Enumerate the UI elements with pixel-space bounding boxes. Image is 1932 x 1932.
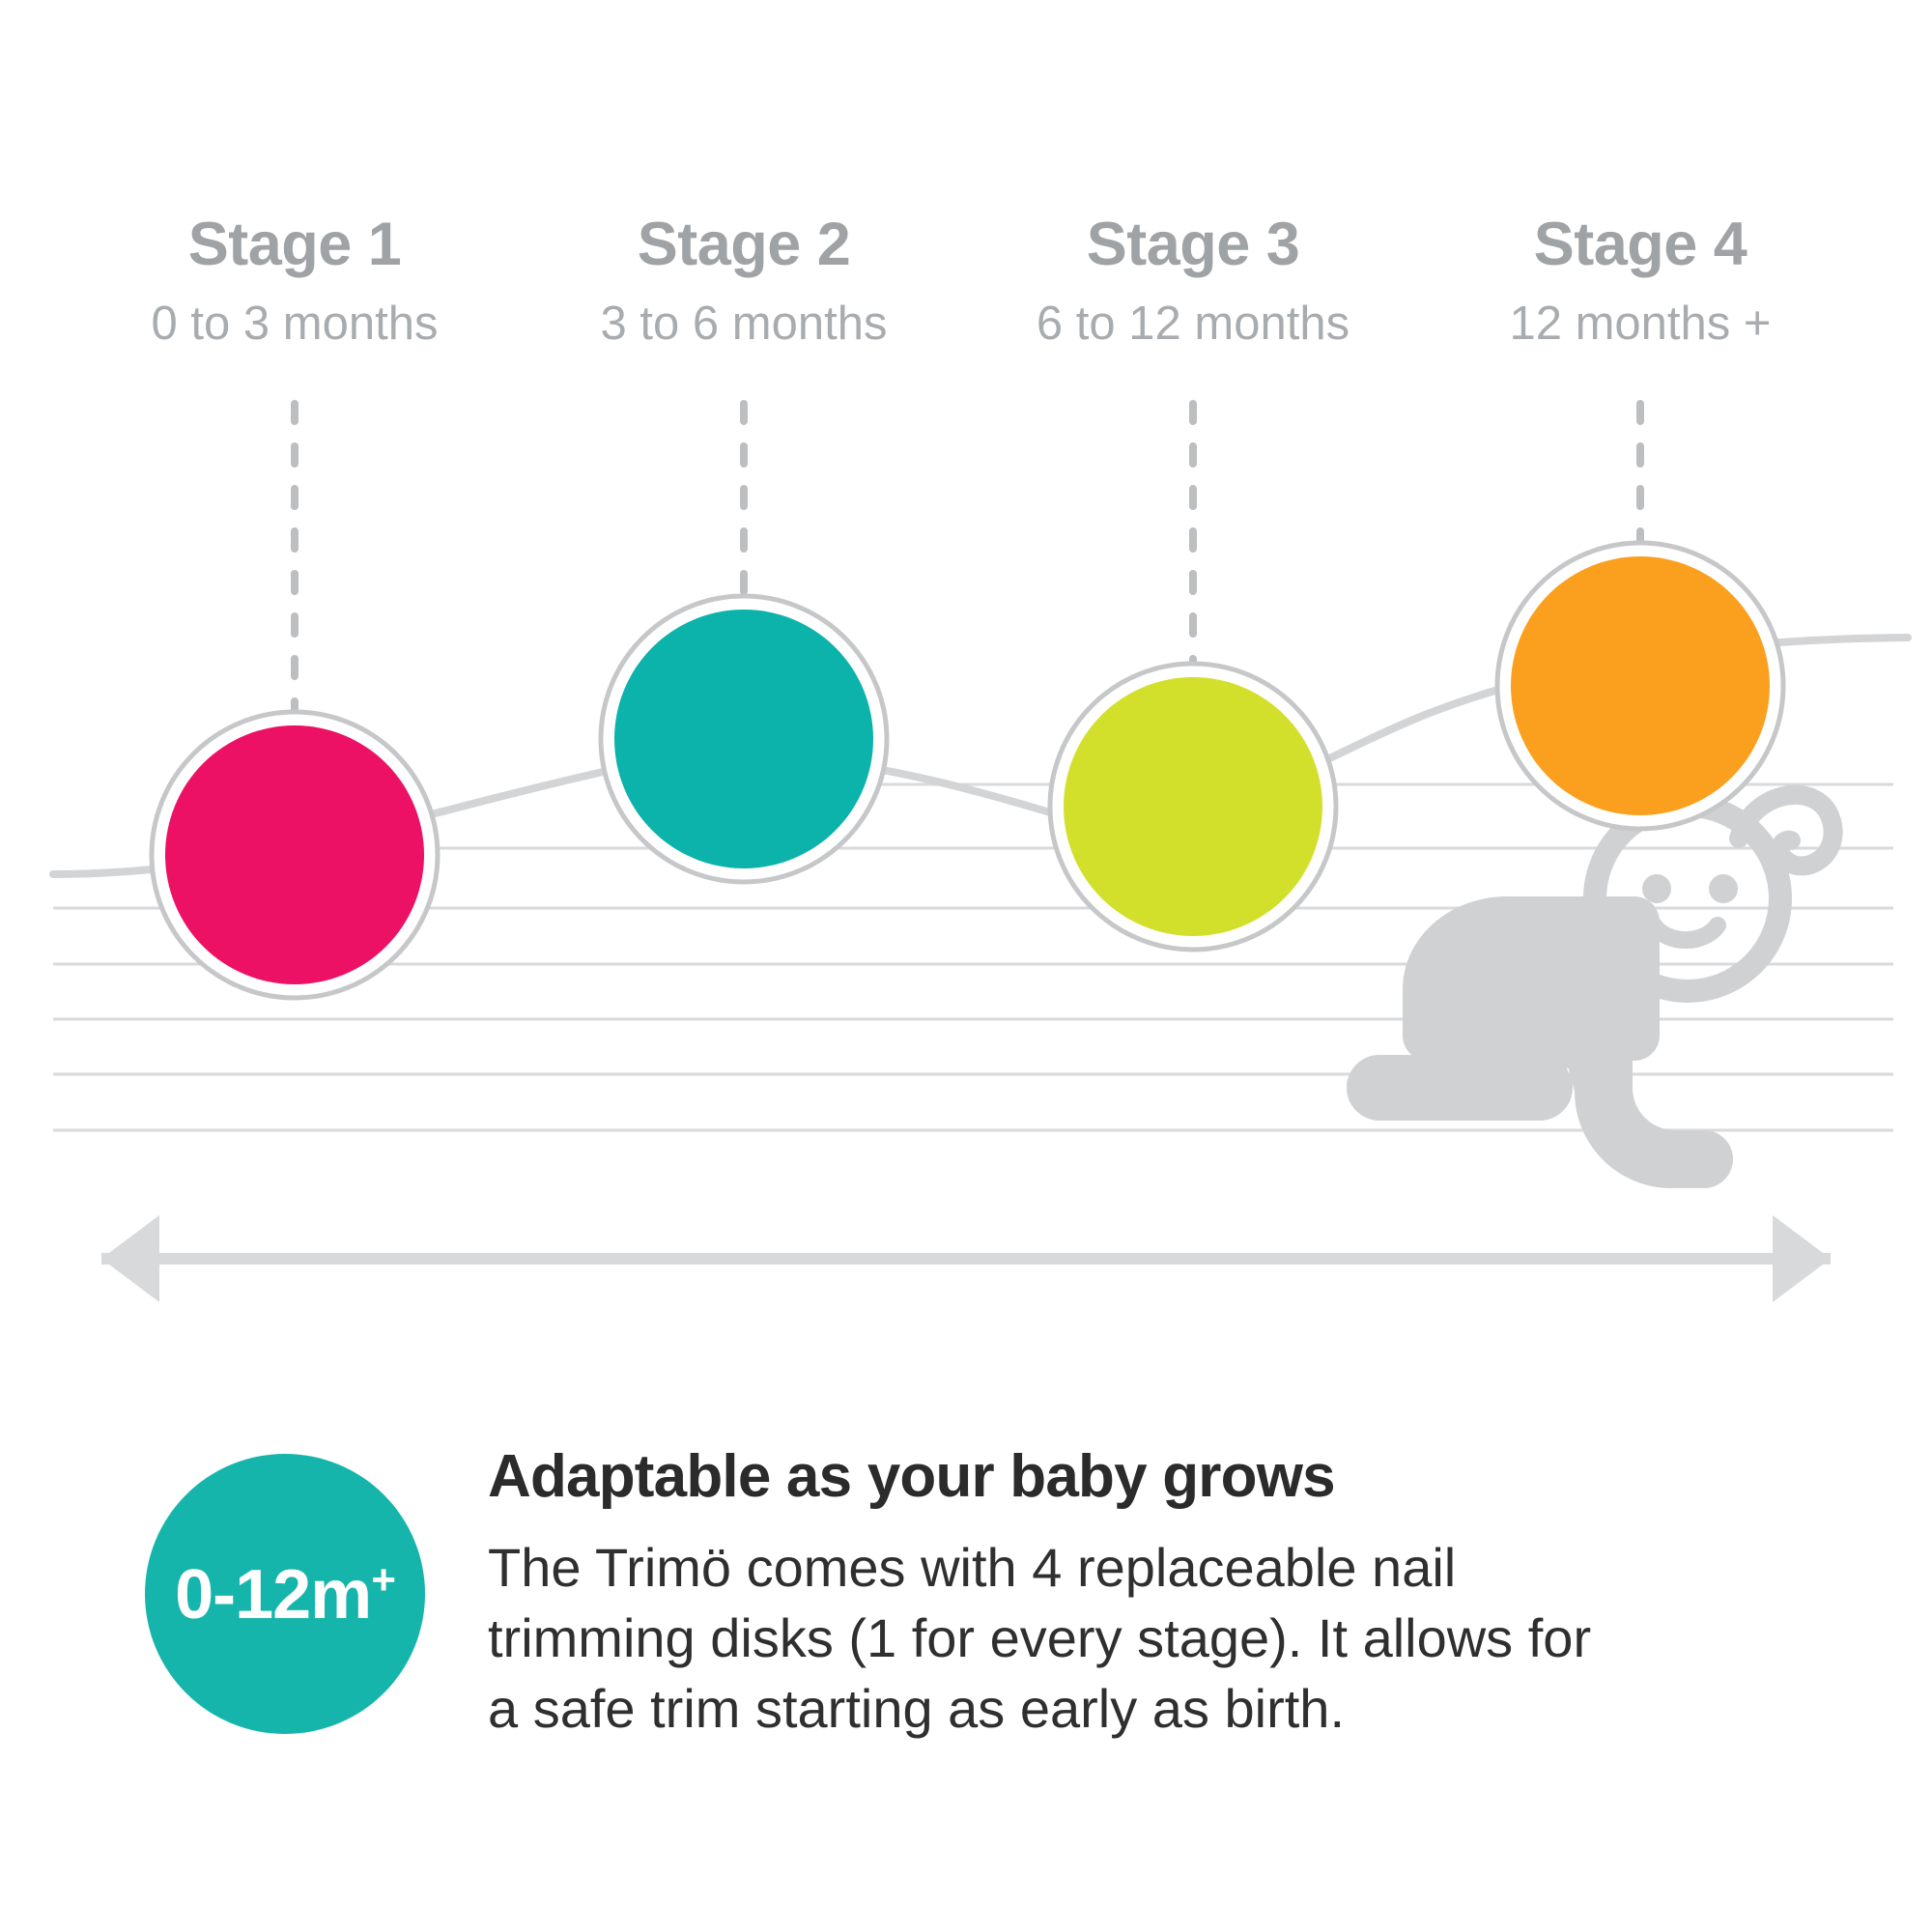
callout-body-line: trimming disks (1 for every stage). It a… [488,1604,1763,1674]
age-badge: 0-12m+ [145,1454,425,1734]
stage-circle-3[interactable] [1050,664,1336,950]
stage-circle-2[interactable] [601,596,887,882]
age-badge-value: 0-12m [175,1556,371,1634]
callout-text: Adaptable as your baby grows The Trimö c… [488,1445,1763,1744]
callout-section: 0-12m+ Adaptable as your baby grows The … [0,1439,1932,1845]
callout-body-line: The Trimö comes with 4 replaceable nail [488,1533,1763,1604]
double-arrow-icon [101,1215,1831,1302]
growth-chart [0,0,1932,1352]
stage-circle-4[interactable] [1497,543,1783,829]
stage-circle-1[interactable] [152,712,438,998]
age-badge-label: 0-12m+ [175,1559,395,1630]
age-badge-superscript: + [371,1556,395,1604]
callout-body-line: a safe trim starting as early as birth. [488,1674,1763,1745]
callout-headline: Adaptable as your baby grows [488,1445,1763,1508]
stage-connectors [295,404,1640,710]
infographic-root: Stage 1 0 to 3 months Stage 2 3 to 6 mon… [0,0,1932,1932]
